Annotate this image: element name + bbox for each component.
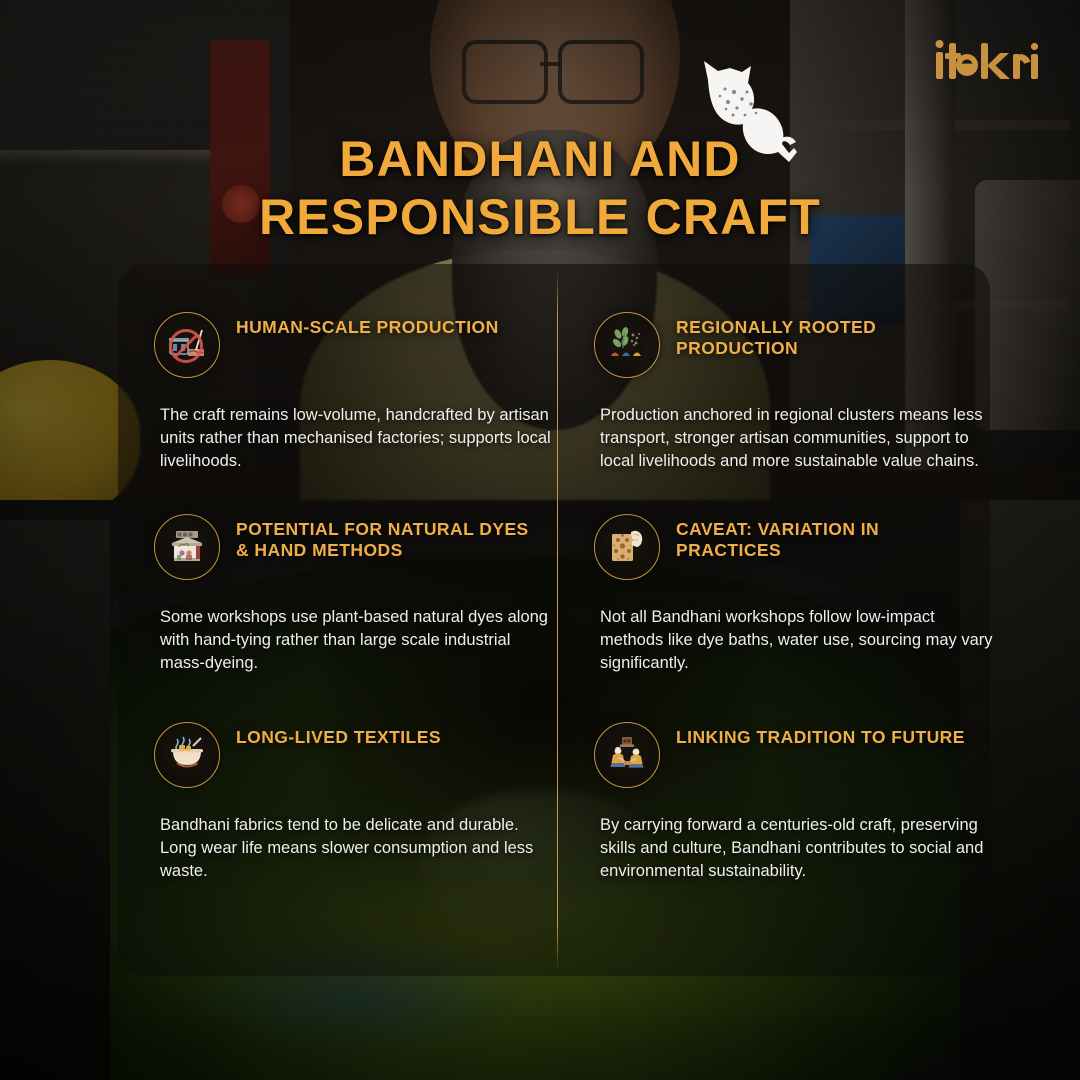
item-header: HUMAN-SCALE PRODUCTION — [154, 312, 554, 378]
brand-logo-itokri[interactable] — [934, 40, 1038, 84]
item-heading: HUMAN-SCALE PRODUCTION — [236, 312, 499, 338]
list-item[interactable]: CAVEAT: VARIATION IN PRACTICES Not all B… — [594, 514, 994, 674]
page-title: BANDHANI AND RESPONSIBLE CRAFT — [0, 130, 1080, 246]
item-body: By carrying forward a centuries-old craf… — [600, 814, 994, 882]
item-header: REGIONALLY ROOTED PRODUCTION — [594, 312, 994, 378]
item-heading: LONG-LIVED TEXTILES — [236, 722, 441, 748]
item-body: The craft remains low-volume, handcrafte… — [160, 404, 552, 472]
item-heading: LINKING TRADITION TO FUTURE — [676, 722, 965, 748]
title-line-1: BANDHANI AND — [339, 131, 740, 187]
list-item[interactable]: HUMAN-SCALE PRODUCTION The craft remains… — [154, 312, 554, 472]
item-header: CAVEAT: VARIATION IN PRACTICES — [594, 514, 994, 580]
item-heading: REGIONALLY ROOTED PRODUCTION — [676, 312, 966, 360]
two-artisans-icon — [594, 722, 660, 788]
title-line-2: RESPONSIBLE CRAFT — [0, 188, 1080, 246]
item-header: POTENTIAL FOR NATURAL DYES & HAND METHOD… — [154, 514, 554, 580]
list-item[interactable]: POTENTIAL FOR NATURAL DYES & HAND METHOD… — [154, 514, 554, 674]
list-item[interactable]: LONG-LIVED TEXTILES Bandhani fabrics ten… — [154, 722, 554, 882]
dye-pot-icon — [154, 722, 220, 788]
workshop-building-icon — [154, 514, 220, 580]
no-factory-icon — [154, 312, 220, 378]
list-item[interactable]: REGIONALLY ROOTED PRODUCTION Production … — [594, 312, 994, 472]
item-body: Not all Bandhani workshops follow low-im… — [600, 606, 994, 674]
left-column: HUMAN-SCALE PRODUCTION The craft remains… — [118, 264, 554, 976]
item-heading: POTENTIAL FOR NATURAL DYES & HAND METHOD… — [236, 514, 536, 562]
content-columns: HUMAN-SCALE PRODUCTION The craft remains… — [118, 264, 990, 976]
item-header: LINKING TRADITION TO FUTURE — [594, 722, 994, 788]
item-header: LONG-LIVED TEXTILES — [154, 722, 554, 788]
itokri-wordmark-icon — [934, 39, 1038, 85]
right-column: REGIONALLY ROOTED PRODUCTION Production … — [554, 264, 990, 976]
item-heading: CAVEAT: VARIATION IN PRACTICES — [676, 514, 966, 562]
item-body: Bandhani fabrics tend to be delicate and… — [160, 814, 552, 882]
list-item[interactable]: LINKING TRADITION TO FUTURE By carrying … — [594, 722, 994, 882]
leaves-pigments-icon — [594, 312, 660, 378]
item-body: Some workshops use plant-based natural d… — [160, 606, 552, 674]
infographic-canvas: BANDHANI AND RESPONSIBLE CRAFT — [0, 0, 1080, 1080]
hand-holding-fabric-icon — [594, 514, 660, 580]
item-body: Production anchored in regional clusters… — [600, 404, 994, 472]
